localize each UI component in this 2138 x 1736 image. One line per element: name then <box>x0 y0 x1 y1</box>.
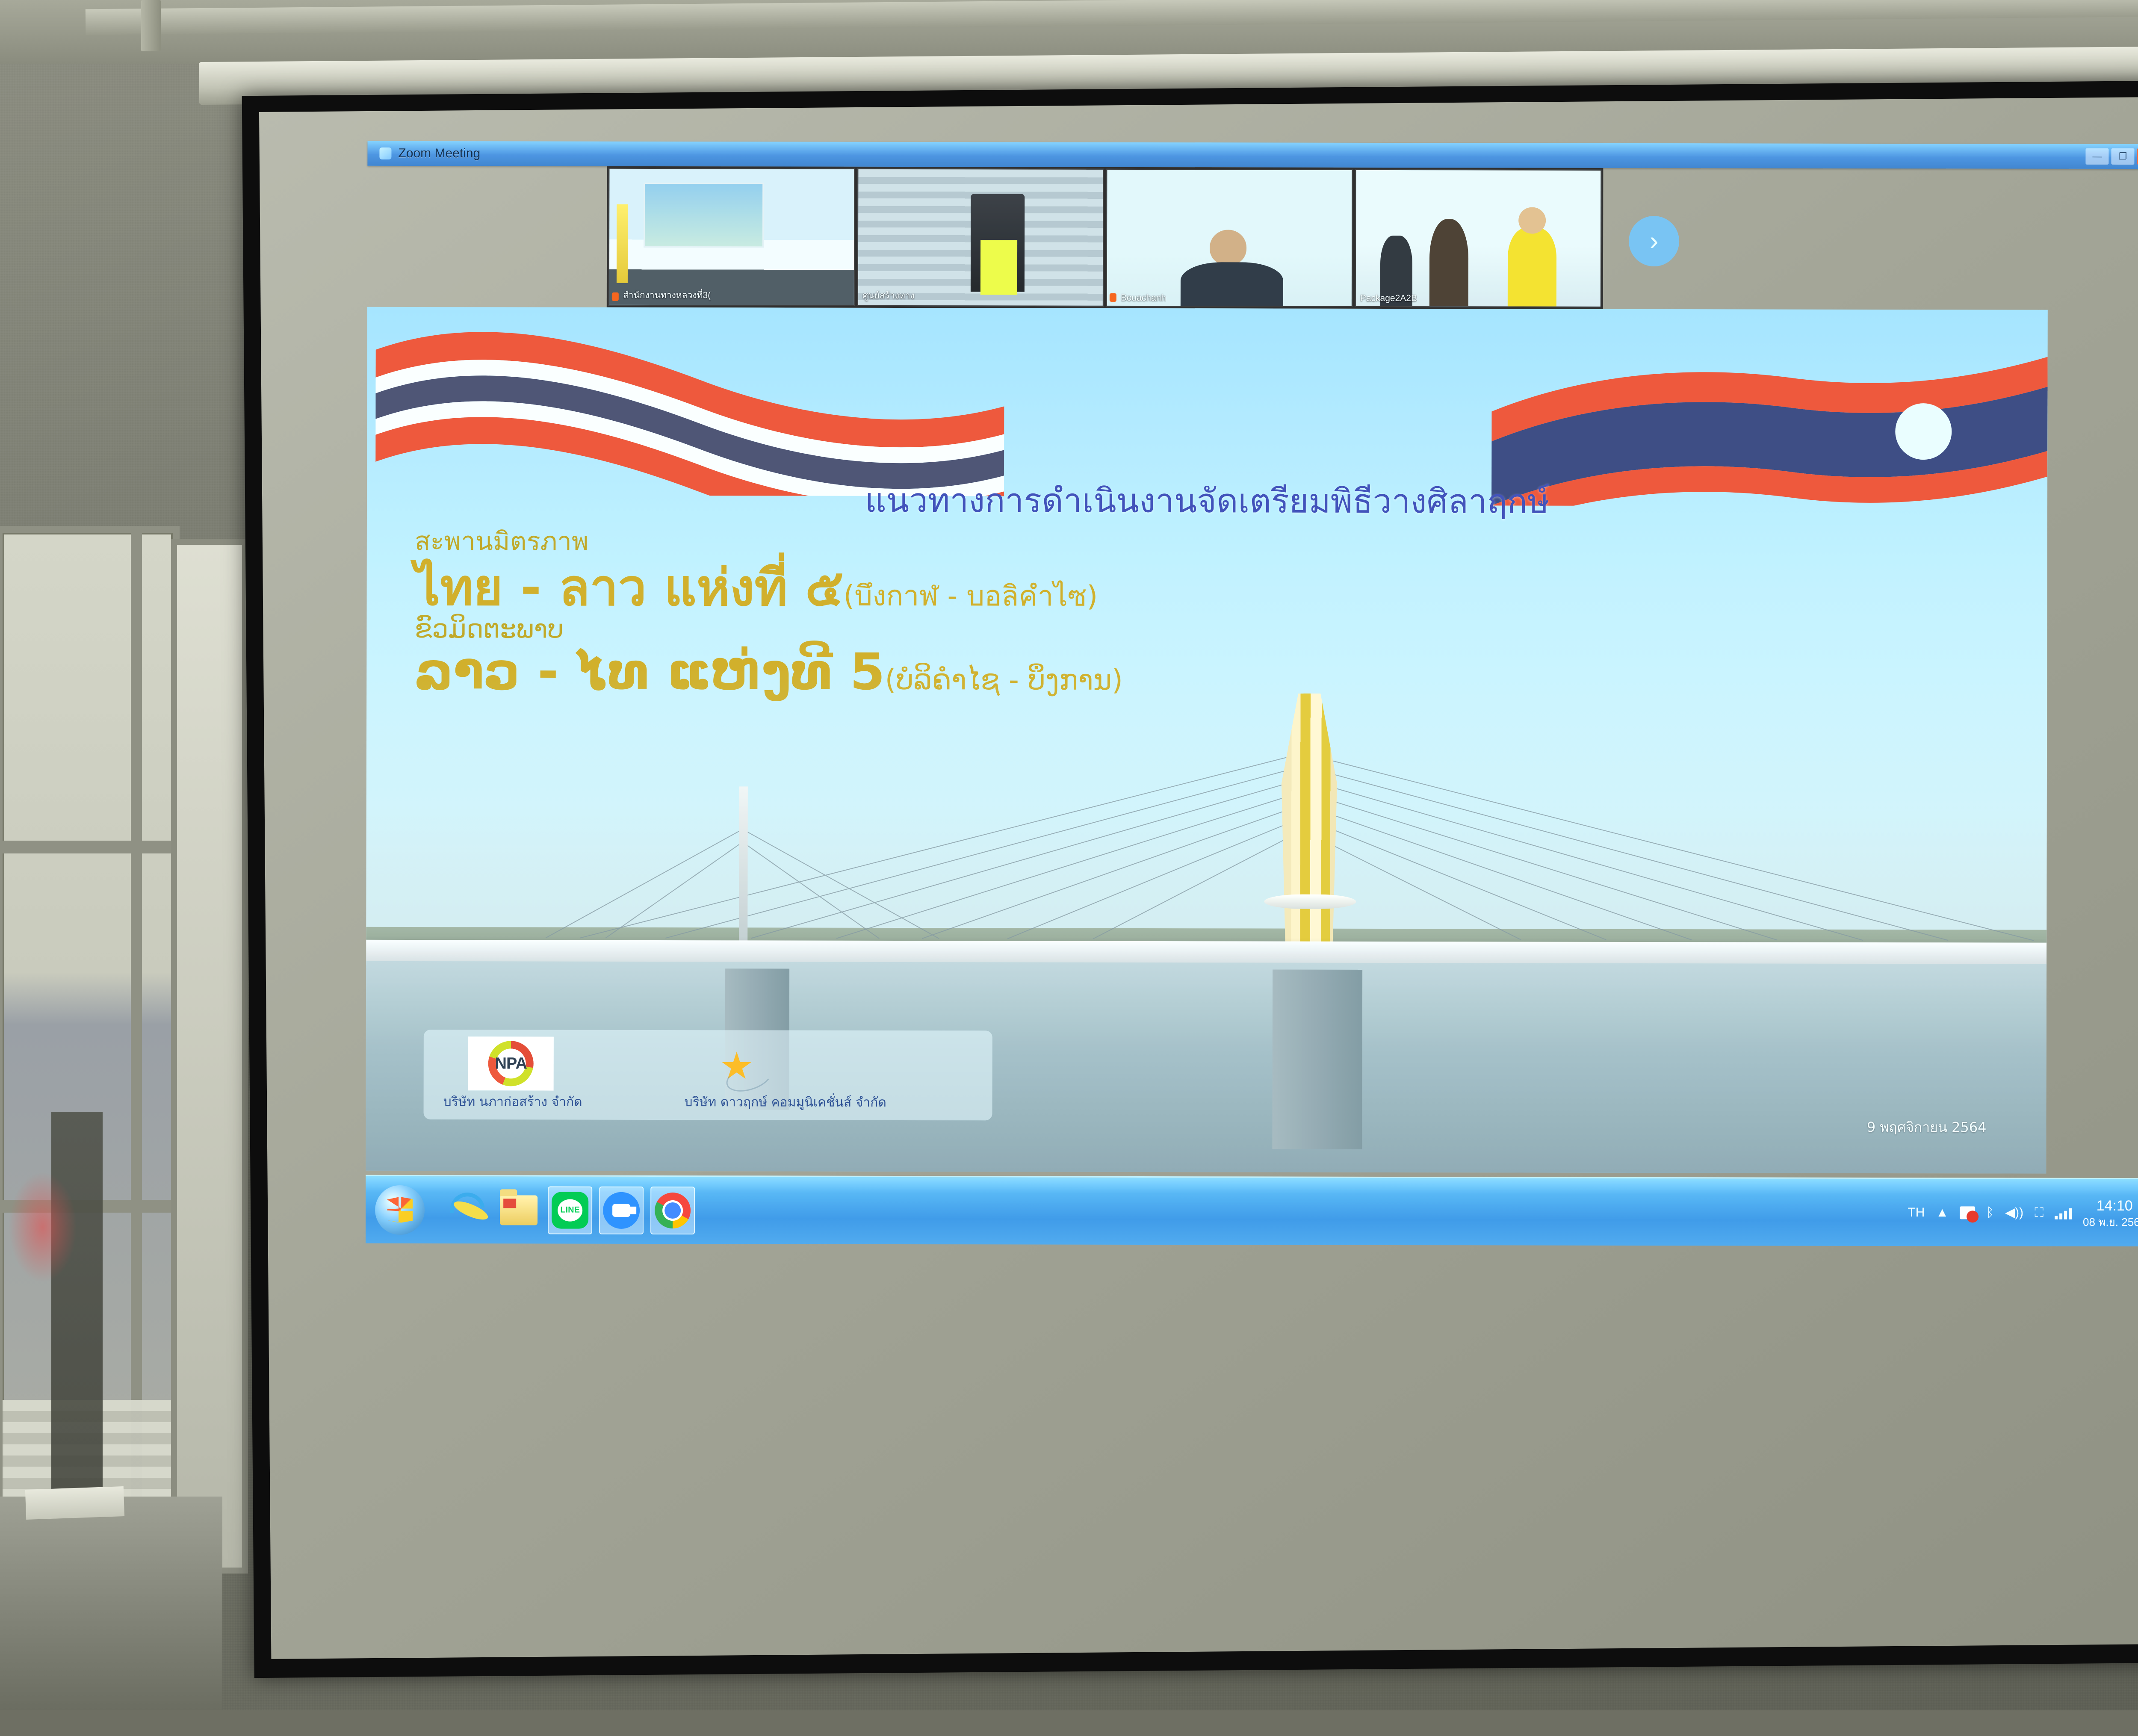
slide-thai-heading-paren: (บึงกาฬ - บอลิคำไซ) <box>844 579 1098 613</box>
network-icon[interactable]: ⛶ <box>2035 1206 2044 1219</box>
zoom-title-bar[interactable]: Zoom Meeting — ❐ ✕ <box>367 141 2138 169</box>
participant-video-feed <box>1356 170 1601 307</box>
chevron-right-icon[interactable]: › <box>1629 216 1679 266</box>
bridge-main-pier <box>1272 970 1362 1149</box>
taskbar-clock[interactable]: 14:10 08 พ.ย. 2564 <box>2083 1197 2138 1229</box>
participant-video-feed <box>1107 170 1352 306</box>
person-silhouette <box>1507 227 1556 307</box>
start-button[interactable] <box>375 1185 425 1234</box>
participant-tile[interactable]: สำนักงานทางหลวงที่3( <box>608 168 855 306</box>
company-name-right: บริษัท ดาวฤกษ์ คอมมูนิเคชั่นส์ จำกัด <box>685 1092 886 1113</box>
action-center-flag-icon[interactable] <box>1960 1206 1975 1219</box>
slide-sponsor-footer: NPA บริษัท นภาก่อสร้าง จำกัด บริษัท ดาวฤ… <box>424 1030 992 1120</box>
ceiling-bracket-left <box>141 0 161 51</box>
internet-explorer-icon <box>443 1186 492 1234</box>
npa-gear-icon: NPA <box>488 1041 534 1086</box>
projector-screen-surface: Zoom Meeting — ❐ ✕ สำนักงานทางหลวงที่3( <box>259 96 2138 1659</box>
participant-name-label: Package2A2B <box>1360 293 1417 304</box>
person-silhouette <box>1429 219 1468 307</box>
person-head <box>1210 230 1246 265</box>
show-hidden-icons-icon[interactable]: ▲ <box>1936 1206 1949 1219</box>
bridge-pylon-cap <box>1264 894 1356 909</box>
bridge-cables <box>366 700 2047 960</box>
line-icon <box>552 1192 588 1228</box>
shared-presentation-slide: แนวทางการดำเนินงานจัดเตรียมพิธีวางศิลาฤก… <box>366 307 2048 1174</box>
slide-title: แนวทางการดำเนินงานจัดเตรียมพิธีวางศิลาฤก… <box>367 473 2047 529</box>
mic-muted-icon <box>1110 293 1116 302</box>
zoom-app-icon <box>379 148 391 159</box>
taskbar-item-zoom[interactable] <box>599 1186 644 1234</box>
minimize-button[interactable]: — <box>2085 148 2108 165</box>
bluetooth-icon[interactable]: ᛒ <box>1986 1206 1994 1219</box>
zoom-window-title: Zoom Meeting <box>398 146 480 161</box>
restore-button[interactable]: ❐ <box>2111 148 2134 165</box>
zoom-icon <box>603 1192 640 1228</box>
slide-date: 9 พฤศจิกายน 2564 <box>1867 1116 1987 1138</box>
zoom-meeting-window[interactable]: Zoom Meeting — ❐ ✕ สำนักงานทางหลวงที่3( <box>366 141 2138 1239</box>
volume-icon[interactable]: ◀)) <box>2005 1206 2023 1219</box>
participant-tile[interactable]: ศูนย์สร้างทาง <box>857 168 1104 307</box>
taskbar-item-line[interactable] <box>548 1186 592 1234</box>
npa-logo-text: NPA <box>495 1054 526 1073</box>
chrome-icon <box>655 1192 691 1228</box>
window-reflection-glow <box>9 1172 77 1283</box>
slide-thai-heading-main: ไทย - ลาว แห่งที่ ๕ <box>415 558 844 617</box>
signal-strength-icon[interactable] <box>2055 1206 2072 1219</box>
projected-desktop: Zoom Meeting — ❐ ✕ สำนักงานทางหลวงที่3( <box>366 141 2138 1290</box>
participant-filmstrip[interactable]: สำนักงานทางหลวงที่3( ศูนย์สร้างทาง <box>607 166 1603 309</box>
company-name-left: บริษัท นภาก่อสร้าง จำกัด <box>443 1092 582 1112</box>
mic-muted-icon <box>612 292 619 301</box>
npa-logo: NPA <box>468 1036 554 1090</box>
participant-name-label: ศูนย์สร้างทาง <box>862 289 915 303</box>
clock-date: 08 พ.ย. 2564 <box>2083 1215 2138 1229</box>
slide-lao-subtitle: ຂົວມິດຕະພາບ <box>414 614 564 644</box>
dao-rerk-logo <box>706 1039 770 1091</box>
participant-video-feed <box>609 169 854 305</box>
room-desk <box>0 1497 222 1710</box>
participant-name-label: สำนักงานทางหลวงที่3( <box>623 288 711 302</box>
person-body <box>1180 262 1283 307</box>
participant-tile[interactable]: Bouachanh <box>1106 169 1353 307</box>
participant-name-label: Bouachanh <box>1121 293 1166 303</box>
system-tray[interactable]: TH ▲ ᛒ ◀)) ⛶ 14:10 08 พ.ย. 2564 <box>1908 1196 2138 1229</box>
language-indicator[interactable]: TH <box>1908 1205 1925 1220</box>
projector-screen-assembly: VERTEX Zoom Meeting — ❐ ✕ <box>198 4 2138 1736</box>
projector-screen-border: Zoom Meeting — ❐ ✕ สำนักงานทางหลวงที่3( <box>242 80 2138 1678</box>
clock-time: 14:10 <box>2083 1197 2138 1215</box>
taskbar-item-chrome[interactable] <box>650 1186 695 1234</box>
taskbar-item-file-explorer[interactable] <box>496 1186 541 1234</box>
file-explorer-icon <box>500 1195 537 1225</box>
thai-flag-ribbon <box>375 324 1004 496</box>
paper-stack <box>25 1486 124 1520</box>
participant-tile[interactable]: Package2A2B <box>1355 169 1602 307</box>
taskbar-pinned-icons[interactable] <box>445 1186 695 1234</box>
window-controls[interactable]: — ❐ ✕ <box>2085 148 2138 165</box>
participant-video-feed <box>858 169 1103 306</box>
windows-taskbar[interactable]: TH ▲ ᛒ ◀)) ⛶ 14:10 08 พ.ย. 2564 <box>366 1175 2138 1246</box>
window-mullion-horizontal <box>3 841 173 853</box>
bridge-secondary-pylon <box>739 786 748 949</box>
taskbar-item-internet-explorer[interactable] <box>445 1186 490 1234</box>
